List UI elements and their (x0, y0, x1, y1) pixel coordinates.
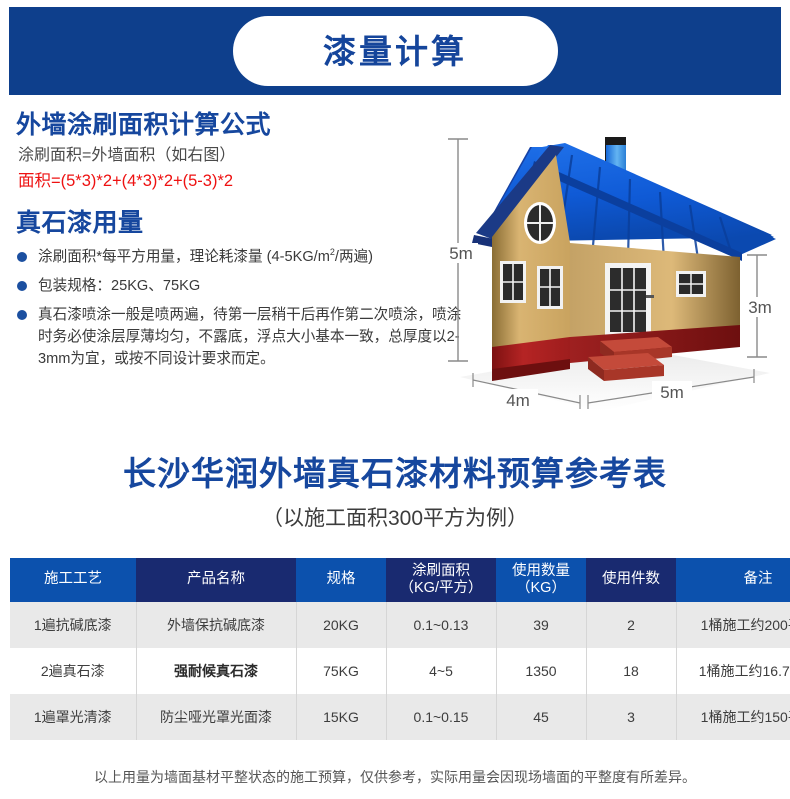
bullet-dot-icon (17, 252, 27, 262)
cell-coverage: 4~5 (386, 648, 496, 694)
cell-coverage: 0.1~0.13 (386, 602, 496, 648)
col-header-remark: 备注 (676, 558, 790, 602)
banner-title-pill: 漆量计算 (233, 16, 558, 86)
door-icon (605, 263, 654, 339)
info-column: 外墙涂刷面积计算公式 涂刷面积=外墙面积（如右图） 面积=(5*3)*2+(4*… (16, 110, 466, 378)
table-row: 1遍罩光清漆 防尘哑光罩光面漆 15KG 0.1~0.15 45 3 1桶施工约… (10, 694, 790, 740)
table-subtitle: （以施工面积300平方为例） (0, 506, 790, 531)
cell-process: 1遍抗碱底漆 (10, 602, 136, 648)
cell-amount: 45 (496, 694, 586, 740)
col-header-coverage: 涂刷面积 （KG/平方） (386, 558, 496, 602)
dimension-label-wall: 3m (748, 298, 772, 317)
cell-count: 18 (586, 648, 676, 694)
usage-heading: 真石漆用量 (16, 208, 466, 238)
table-title: 长沙华润外墙真石漆材料预算参考表 (0, 455, 790, 493)
window-icon (676, 271, 706, 297)
list-item: 包装规格：25KG、75KG (16, 275, 466, 297)
col-header-spec: 规格 (296, 558, 386, 602)
cell-product: 强耐候真石漆 (136, 648, 296, 694)
col-header-process: 施工工艺 (10, 558, 136, 602)
cell-process: 2遍真石漆 (10, 648, 136, 694)
formula-expression: 面积=(5*3)*2+(4*3)*2+(5-3)*2 (18, 169, 466, 194)
bullet-text: 涂刷面积*每平方用量，理论耗漆量 (4-5KG/m2/两遍) (38, 249, 373, 265)
dimension-label-width: 5m (660, 383, 684, 402)
col-header-line1: 产品名称 (138, 571, 294, 588)
materials-table: 施工工艺 产品名称 规格 涂刷面积 （KG/平方） 使用数量 （KG） 使用件数… (10, 558, 790, 740)
cell-spec: 20KG (296, 602, 386, 648)
col-header-line1: 规格 (298, 571, 384, 588)
bullet-text: 真石漆喷涂一般是喷两遍，待第一层稍干后再作第二次喷涂，喷涂时务必使涂层厚薄均匀，… (38, 307, 461, 367)
cell-spec: 75KG (296, 648, 386, 694)
cell-amount: 39 (496, 602, 586, 648)
table-footnote: 以上用量为墙面基材平整状态的施工预算，仅供参考，实际用量会因现场墙面的平整度有所… (0, 768, 790, 786)
cell-product: 外墙保抗碱底漆 (136, 602, 296, 648)
page-banner: 漆量计算 (9, 7, 781, 95)
cell-remark: 1桶施工约150平方 (676, 694, 790, 740)
col-header-line2: （KG） (498, 580, 584, 597)
banner-title: 漆量计算 (323, 35, 467, 68)
house-diagram: 5m 3m 4m 5m (440, 125, 785, 425)
col-header-count: 使用件数 (586, 558, 676, 602)
col-header-line1: 施工工艺 (12, 571, 134, 588)
dimension-label-height: 5m (449, 244, 473, 263)
cell-product: 防尘哑光罩光面漆 (136, 694, 296, 740)
cell-coverage: 0.1~0.15 (386, 694, 496, 740)
usage-bullet-list: 涂刷面积*每平方用量，理论耗漆量 (4-5KG/m2/两遍) 包装规格：25KG… (16, 246, 466, 371)
cell-count: 3 (586, 694, 676, 740)
col-header-amount: 使用数量 （KG） (496, 558, 586, 602)
list-item: 真石漆喷涂一般是喷两遍，待第一层稍干后再作第二次喷涂，喷涂时务必使涂层厚薄均匀，… (16, 304, 466, 371)
cell-remark: 1桶施工约16.7平方 (676, 648, 790, 694)
col-header-line1: 涂刷面积 (388, 563, 494, 580)
col-header-product: 产品名称 (136, 558, 296, 602)
col-header-line1: 备注 (678, 571, 790, 588)
window-icon (537, 266, 563, 309)
col-header-line1: 使用件数 (588, 571, 674, 588)
table-header-row: 施工工艺 产品名称 规格 涂刷面积 （KG/平方） 使用数量 （KG） 使用件数… (10, 558, 790, 602)
formula-heading: 外墙涂刷面积计算公式 (16, 110, 466, 140)
window-icon (500, 261, 526, 303)
cell-spec: 15KG (296, 694, 386, 740)
bullet-text: 包装规格：25KG、75KG (38, 278, 200, 294)
table-row: 2遍真石漆 强耐候真石漆 75KG 4~5 1350 18 1桶施工约16.7平… (10, 648, 790, 694)
dimension-label-depth: 4m (506, 391, 530, 410)
cell-remark: 1桶施工约200平方 (676, 602, 790, 648)
col-header-line2: （KG/平方） (388, 580, 494, 597)
list-item: 涂刷面积*每平方用量，理论耗漆量 (4-5KG/m2/两遍) (16, 246, 466, 268)
col-header-line1: 使用数量 (498, 563, 584, 580)
upper-content: 外墙涂刷面积计算公式 涂刷面积=外墙面积（如右图） 面积=(5*3)*2+(4*… (0, 100, 790, 440)
bullet-dot-icon (17, 310, 27, 320)
house-illustration: 5m 3m 4m 5m (440, 125, 785, 425)
formula-description: 涂刷面积=外墙面积（如右图） (18, 144, 466, 168)
cell-count: 2 (586, 602, 676, 648)
bullet-dot-icon (17, 281, 27, 291)
cell-amount: 1350 (496, 648, 586, 694)
cell-process: 1遍罩光清漆 (10, 694, 136, 740)
table-row: 1遍抗碱底漆 外墙保抗碱底漆 20KG 0.1~0.13 39 2 1桶施工约2… (10, 602, 790, 648)
